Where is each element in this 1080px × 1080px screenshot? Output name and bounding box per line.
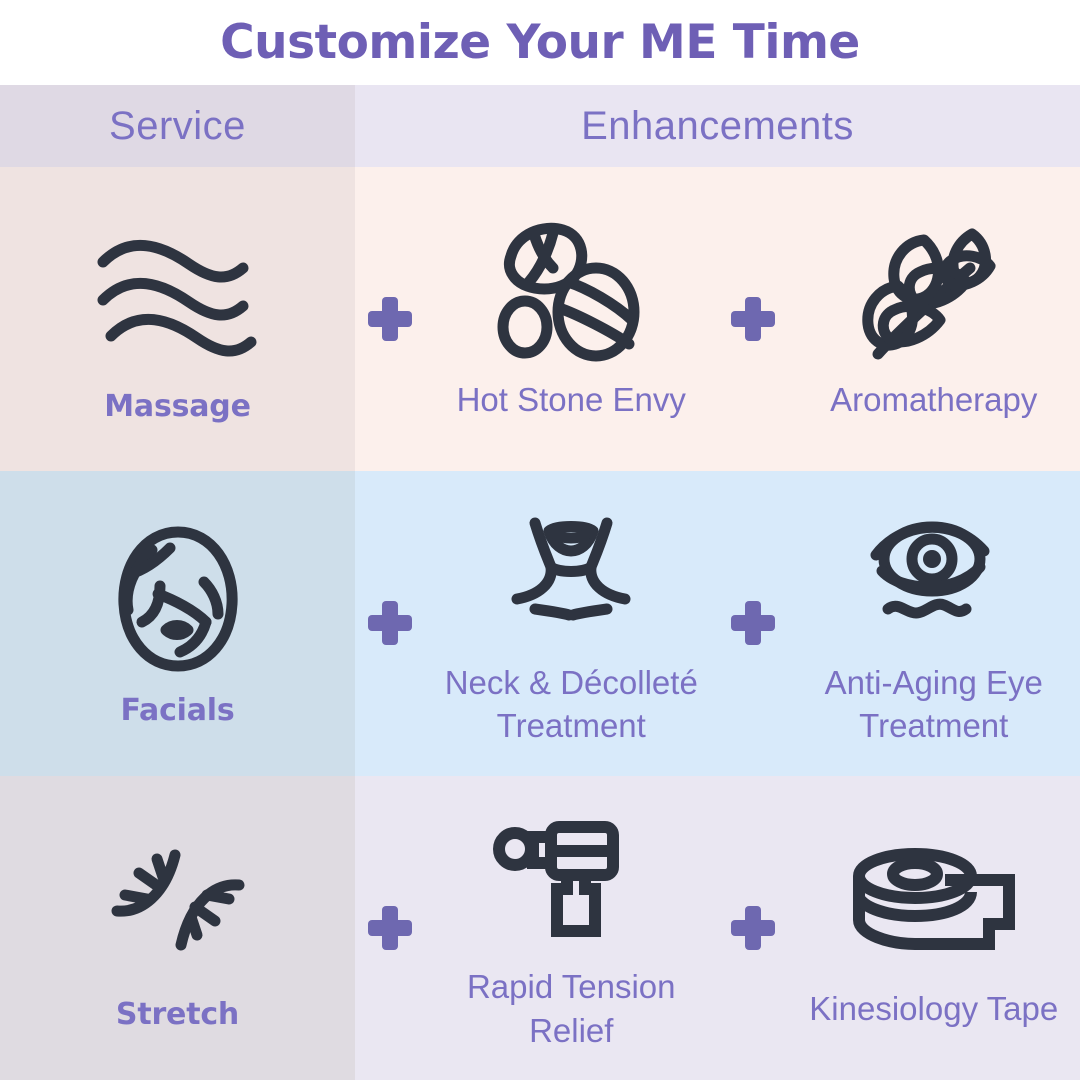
service-label: Massage	[104, 389, 250, 424]
enhancement-label: Anti-Aging Eye Treatment	[796, 661, 1073, 748]
massage-gun-icon	[491, 803, 651, 953]
enhancement-cell-anti-aging-eye[interactable]: Anti-Aging Eye Treatment	[788, 499, 1080, 748]
table-row: Stretch Rapid	[0, 776, 1080, 1080]
enhancement-cell-kinesiology-tape[interactable]: Kinesiology Tape	[788, 825, 1080, 1031]
enhancement-cell-aromatherapy[interactable]: Aromatherapy	[788, 216, 1080, 422]
neck-decollete-icon	[491, 499, 651, 649]
enhancement-label: Aromatherapy	[830, 378, 1037, 422]
hot-stones-icon	[491, 216, 651, 366]
plus-icon	[368, 601, 412, 645]
plus-separator	[718, 601, 788, 645]
customize-me-time-infographic: Customize Your ME Time Service Enhanceme…	[0, 0, 1080, 1080]
enhancement-label: Neck & Décolleté Treatment	[433, 661, 710, 748]
column-header-service: Service	[0, 85, 355, 167]
plus-icon	[368, 297, 412, 341]
column-header-enhancements: Enhancements	[355, 85, 1080, 167]
plus-separator	[355, 297, 425, 341]
plus-icon	[368, 906, 412, 950]
enhancement-cell-hot-stone-envy[interactable]: Hot Stone Envy	[425, 216, 718, 422]
enhancement-label: Kinesiology Tape	[809, 987, 1058, 1031]
plus-icon	[731, 906, 775, 950]
eye-icon	[854, 499, 1014, 649]
service-cell-massage[interactable]: Massage	[0, 167, 355, 471]
column-header-service-label: Service	[109, 104, 246, 149]
enhancement-label: Hot Stone Envy	[457, 378, 686, 422]
enhancements-area: Neck & Décolleté Treatment	[355, 471, 1080, 775]
wave-lines-icon	[93, 215, 263, 375]
plus-separator	[718, 906, 788, 950]
plus-separator	[355, 601, 425, 645]
plus-separator	[355, 906, 425, 950]
enhancements-area: Rapid Tension Relief Kinesiology Ta	[355, 776, 1080, 1080]
enhancements-area: Hot Stone Envy	[355, 167, 1080, 471]
column-header-row: Service Enhancements	[0, 85, 1080, 167]
table-row: Massage	[0, 167, 1080, 471]
title-bar: Customize Your ME Time	[0, 0, 1080, 85]
column-header-enhancements-label: Enhancements	[581, 104, 854, 149]
stretch-burst-icon	[103, 823, 253, 983]
service-rows: Massage	[0, 167, 1080, 1080]
service-cell-facials[interactable]: Facials	[0, 471, 355, 775]
service-label: Facials	[120, 693, 234, 728]
leaf-sprig-icon	[854, 216, 1014, 366]
enhancement-cell-rapid-tension-relief[interactable]: Rapid Tension Relief	[425, 803, 718, 1052]
plus-icon	[731, 601, 775, 645]
plus-separator	[718, 297, 788, 341]
service-label: Stretch	[116, 997, 239, 1032]
table-row: Facials	[0, 471, 1080, 775]
face-wrap-icon	[108, 519, 248, 679]
service-cell-stretch[interactable]: Stretch	[0, 776, 355, 1080]
tape-roll-icon	[849, 825, 1019, 975]
enhancement-label: Rapid Tension Relief	[433, 965, 710, 1052]
plus-icon	[731, 297, 775, 341]
page-title: Customize Your ME Time	[220, 15, 860, 70]
enhancement-cell-neck-decollete[interactable]: Neck & Décolleté Treatment	[425, 499, 718, 748]
